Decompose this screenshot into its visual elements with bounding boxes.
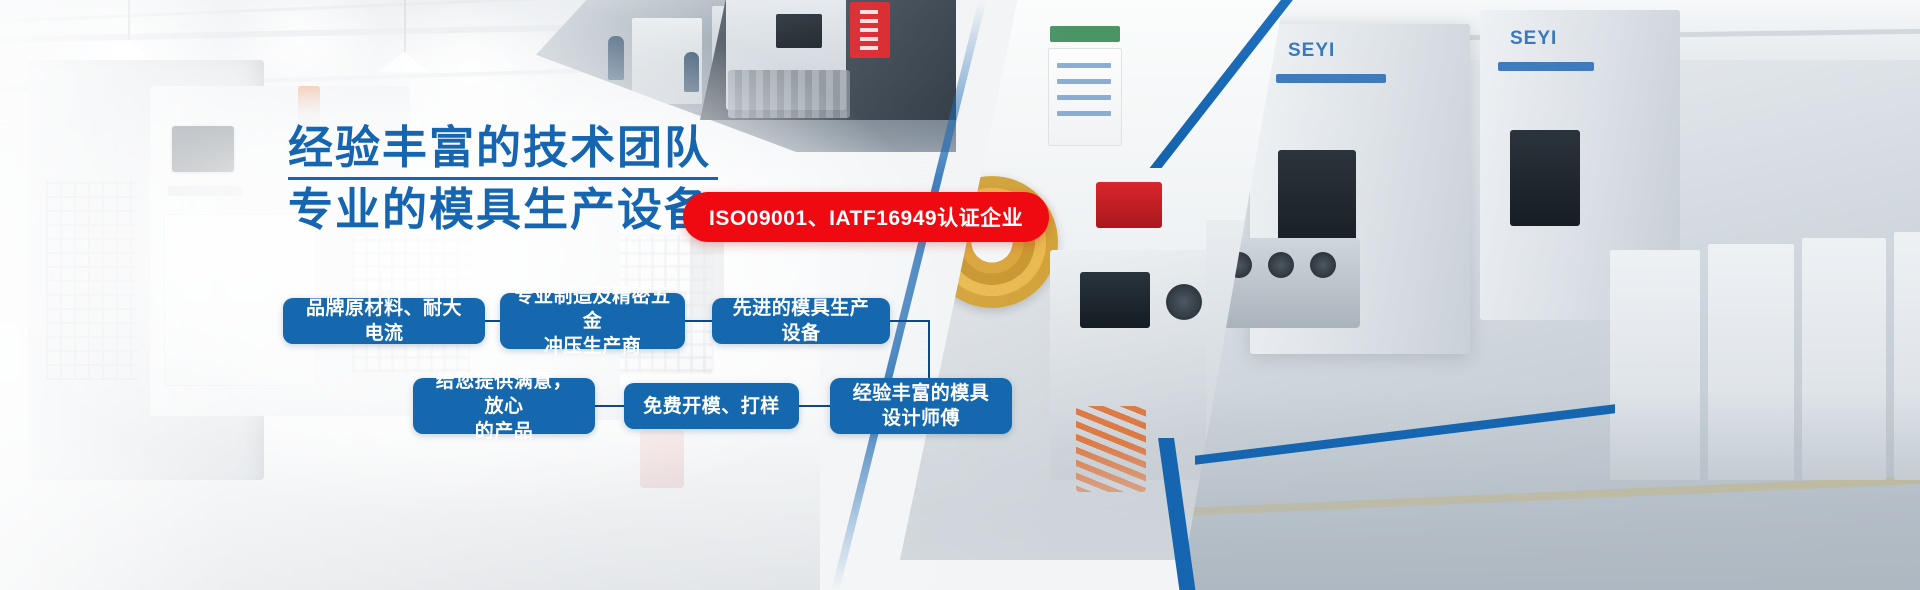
pill-advanced-equipment[interactable]: 先进的模具生产设备 [712, 298, 890, 344]
connector-line [799, 405, 830, 407]
connector-line [595, 405, 624, 407]
connector-line [685, 320, 712, 322]
connector-line [890, 320, 930, 322]
pill-experienced-designers[interactable]: 经验丰富的模具设计师傅 [830, 378, 1012, 434]
headline: 经验丰富的技术团队 专业的模具生产设备 [288, 122, 718, 236]
banner-content: 经验丰富的技术团队 专业的模具生产设备 ISO09001、IATF16949认证… [0, 0, 1920, 590]
headline-line-2: 专业的模具生产设备 [288, 180, 718, 236]
promotional-banner: SEYI SEYI 经验丰富的技术团队 专业的模具生产设备 ISO09001、I… [0, 0, 1920, 590]
pill-precision-manufacturer[interactable]: 专业制造及精密五金冲压生产商 [500, 293, 685, 349]
pill-brand-material[interactable]: 品牌原材料、耐大电流 [283, 298, 485, 344]
headline-line-1: 经验丰富的技术团队 [288, 122, 718, 180]
connector-line [485, 320, 500, 322]
certification-badge: ISO09001、IATF16949认证企业 [683, 192, 1049, 242]
pill-satisfying-products[interactable]: 给您提供满意，放心的产品 [413, 378, 595, 434]
pill-free-mold-sampling[interactable]: 免费开模、打样 [624, 383, 799, 429]
